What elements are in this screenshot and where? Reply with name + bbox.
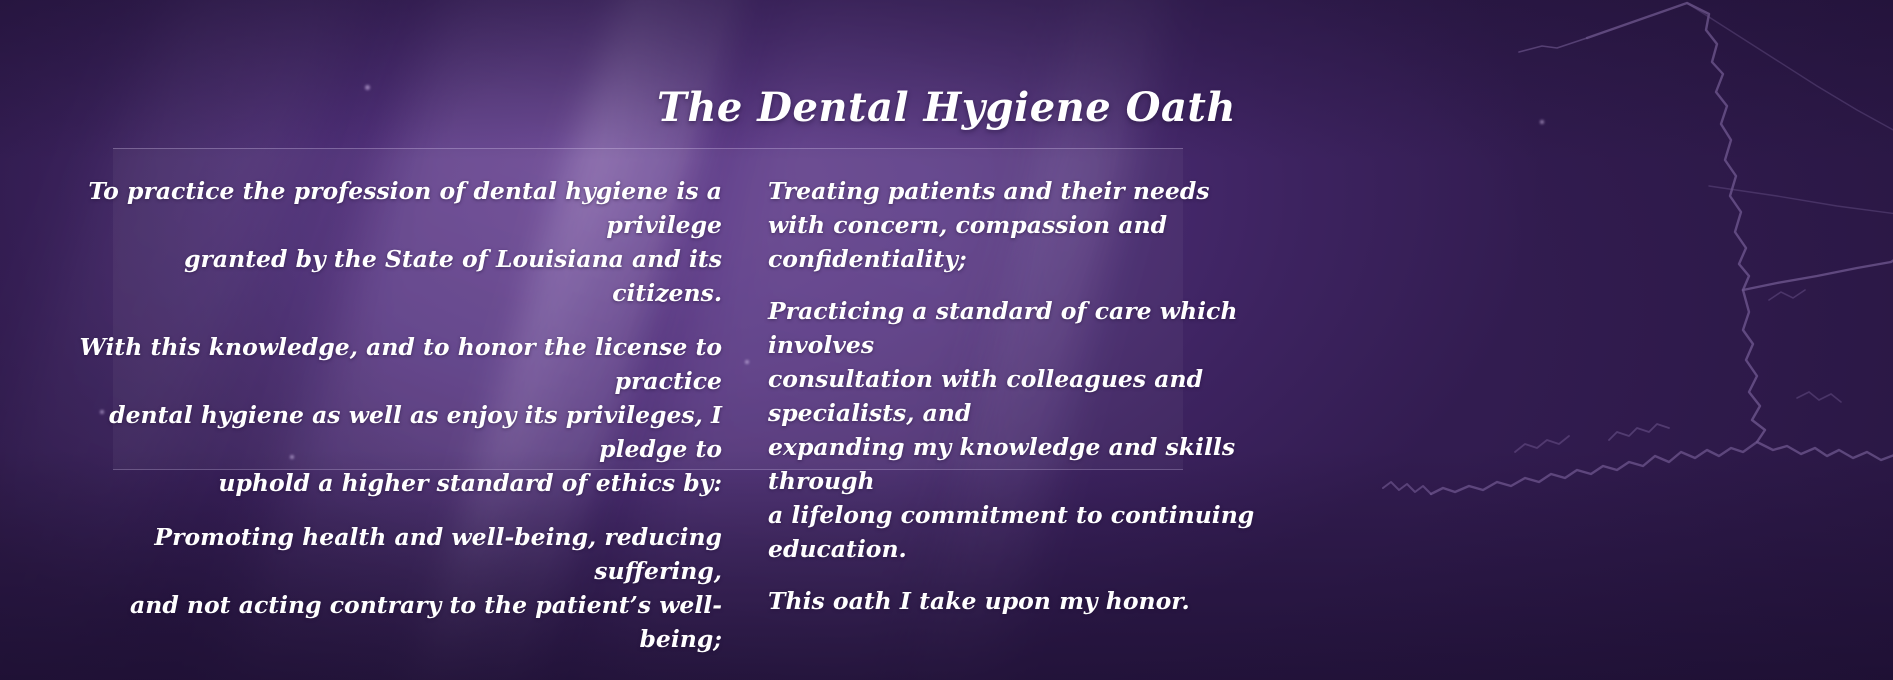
oath-paragraph: Treating patients and their needs with c…	[768, 174, 1340, 276]
page-title: The Dental Hygiene Oath	[0, 84, 1893, 131]
oath-paragraph: To practice the profession of dental hyg…	[70, 174, 722, 310]
oath-paragraph: With this knowledge, and to honor the li…	[70, 330, 722, 500]
oath-poster: The Dental Hygiene Oath To practice the …	[0, 0, 1893, 680]
oath-column-left: To practice the profession of dental hyg…	[0, 160, 740, 480]
oath-paragraph: This oath I take upon my honor.	[768, 584, 1340, 618]
oath-column-right: Treating patients and their needs with c…	[740, 160, 1340, 480]
oath-paragraph: Practicing a standard of care which invo…	[768, 294, 1340, 566]
oath-columns: To practice the profession of dental hyg…	[0, 160, 1893, 480]
oath-paragraph: Promoting health and well-being, reducin…	[70, 520, 722, 656]
